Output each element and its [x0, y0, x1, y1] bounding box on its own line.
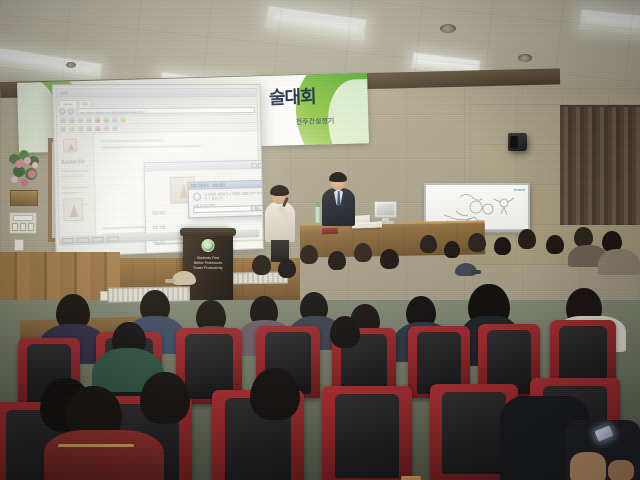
- browser-tab-0[interactable]: Adobe: [59, 100, 77, 107]
- audience-head: [546, 235, 564, 254]
- flower-arrangement: [6, 148, 44, 206]
- toolbar-icon-5[interactable]: [95, 126, 100, 131]
- hand: [608, 460, 634, 480]
- menu-icon-3[interactable]: [78, 118, 84, 123]
- ceiling-light-5: [579, 9, 640, 36]
- ceiling-speaker-recessed-2: [518, 54, 532, 62]
- menu-icon-5[interactable]: [95, 117, 100, 122]
- audience-head: [518, 229, 536, 249]
- projected-browser-window: 시작 Adobe 문서 http://www.adobe.com/kr/prod…: [55, 88, 260, 246]
- toolbar-icon-7[interactable]: [112, 126, 117, 131]
- hand: [570, 452, 606, 480]
- computer-monitor: [374, 201, 397, 224]
- menu-icon-4[interactable]: [86, 118, 91, 123]
- modal-message: 이 파일을 실행하거나 저장하시겠습니까? 게시자를 확인할 수 없습니다.: [204, 191, 264, 201]
- menu-icon-1[interactable]: [60, 118, 66, 123]
- audience-member-using-phone: [500, 390, 640, 480]
- adobe-reader-icon: [63, 139, 77, 153]
- modal-text-input[interactable]: [193, 205, 252, 213]
- ceiling-sprinkler: [66, 62, 76, 68]
- auditorium-seat[interactable]: [322, 386, 412, 480]
- ceiling-speaker-recessed-1: [440, 24, 456, 33]
- menu-icon-7[interactable]: [112, 117, 117, 122]
- pdf-file-icon: [63, 198, 83, 222]
- audience-head-foreground: [250, 368, 300, 420]
- presenter-a-hair: [270, 185, 289, 196]
- forward-icon[interactable]: [68, 108, 75, 114]
- toolbar-icon-2[interactable]: [69, 126, 75, 131]
- dialog-titlebar[interactable]: [145, 161, 264, 172]
- banner-title-tail: 술대회: [269, 83, 316, 110]
- toolbar-icon-3[interactable]: [78, 126, 84, 131]
- presenter-b-hair: [329, 172, 347, 182]
- audience-head: [444, 241, 460, 258]
- page-main-column: 저장 위치 파일 이름 파일 형식 파일 다운로드 - 보안 경고 이 파일을 …: [94, 132, 259, 235]
- url-input[interactable]: http://www.adobe.com/kr/products/reader.…: [76, 107, 255, 115]
- audience-head: [468, 233, 486, 252]
- menu-icon-2[interactable]: [69, 118, 75, 123]
- minimize-icon[interactable]: [251, 163, 257, 168]
- window-curtain: [560, 105, 640, 225]
- audience-head: [420, 235, 437, 253]
- adobe-brand-label: Adobe Re: [61, 159, 85, 166]
- menu-icon-8[interactable]: [120, 117, 125, 122]
- ceiling-light-1: [0, 45, 103, 82]
- audience-head: [494, 237, 511, 255]
- audience-member-foreground-left: [44, 386, 164, 480]
- water-bottle: [315, 206, 321, 223]
- menu-icon-6[interactable]: [103, 117, 108, 122]
- browser-tab-1[interactable]: 문서: [78, 100, 93, 107]
- presenter-in-suit: [322, 174, 356, 226]
- toolbar-icon-6[interactable]: [104, 126, 109, 131]
- warning-icon: [193, 193, 201, 201]
- banner-subtitle-right: 전주건설정기: [296, 116, 335, 127]
- modal-ok-button[interactable]: 확인: [251, 205, 263, 211]
- dialog-label-0: 저장 위치: [152, 210, 165, 216]
- page-sidebar: Adobe Re: [57, 134, 96, 236]
- audience-seating: [0, 260, 640, 480]
- lecture-hall-photo: 2 술대회 일시 전주건설정기 시작 Adobe 문서: [0, 0, 640, 480]
- audience-head: [574, 227, 593, 247]
- audience-head: [330, 316, 360, 348]
- flower-basket: [10, 190, 38, 206]
- ceiling-light-3: [265, 5, 367, 41]
- back-icon[interactable]: [59, 108, 66, 114]
- download-security-warning-dialog[interactable]: 파일 다운로드 - 보안 경고 이 파일을 실행하거나 저장하시겠습니까? 게시…: [188, 180, 264, 219]
- modal-titlebar[interactable]: 파일 다운로드 - 보안 경고: [189, 181, 264, 190]
- toolbar-icon-4[interactable]: [86, 126, 91, 131]
- modal-title: 파일 다운로드 - 보안 경고: [191, 182, 226, 190]
- toolbar-icon-1[interactable]: [60, 126, 66, 131]
- wall-speaker-icon: [508, 133, 527, 151]
- web-page-content: Adobe Re: [57, 132, 259, 236]
